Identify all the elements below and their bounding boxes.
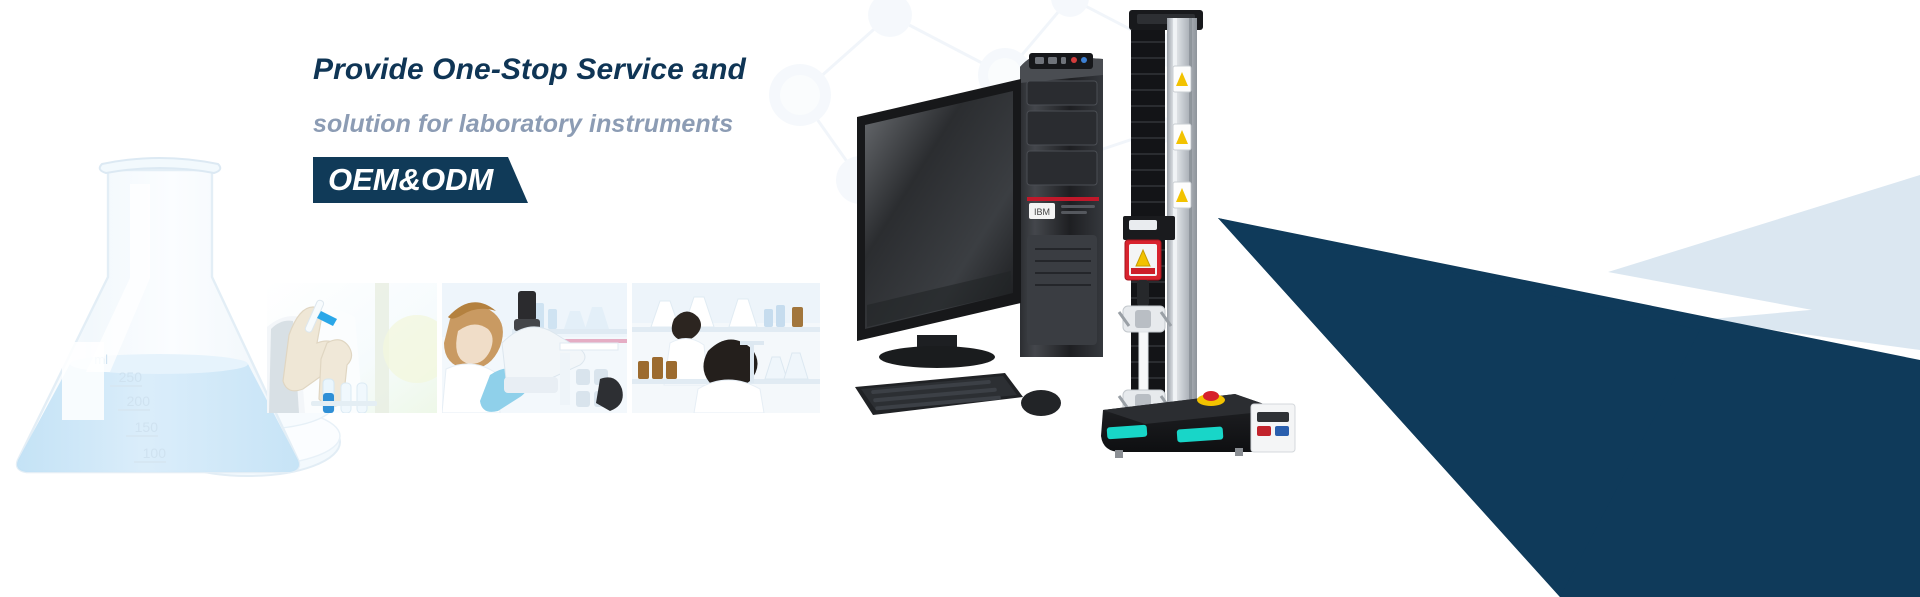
microscope-eyepiece (518, 291, 536, 321)
photo-microscope-researcher (442, 283, 627, 413)
promo-banner: 250 200 150 100 ml Provide One-Stop Serv… (0, 0, 1920, 597)
oem-odm-badge: OEM&ODM (313, 157, 515, 203)
mouse (1021, 390, 1061, 416)
light-blue-triangle-lower (1700, 300, 1920, 350)
photo-lab-bench-workers (632, 283, 820, 413)
dark-navy-arrow (1218, 218, 1920, 597)
test-specimen (1139, 332, 1148, 390)
warning-labels (1173, 66, 1191, 208)
lab-photo-strip (267, 283, 820, 413)
photo-pipetting-gloved-hands (267, 283, 437, 413)
svg-text:150: 150 (135, 419, 159, 435)
badge-label: OEM&ODM (313, 157, 515, 203)
light-blue-triangle (1608, 175, 1920, 330)
svg-text:200: 200 (127, 393, 151, 409)
pc-monitor (857, 79, 1021, 368)
svg-text:250: 250 (119, 369, 143, 385)
svg-text:100: 100 (143, 445, 167, 461)
tensile-testing-machine-image (1085, 8, 1300, 458)
svg-text:IBM: IBM (1034, 207, 1050, 217)
flask-label (62, 342, 104, 420)
keyboard (855, 373, 1023, 415)
